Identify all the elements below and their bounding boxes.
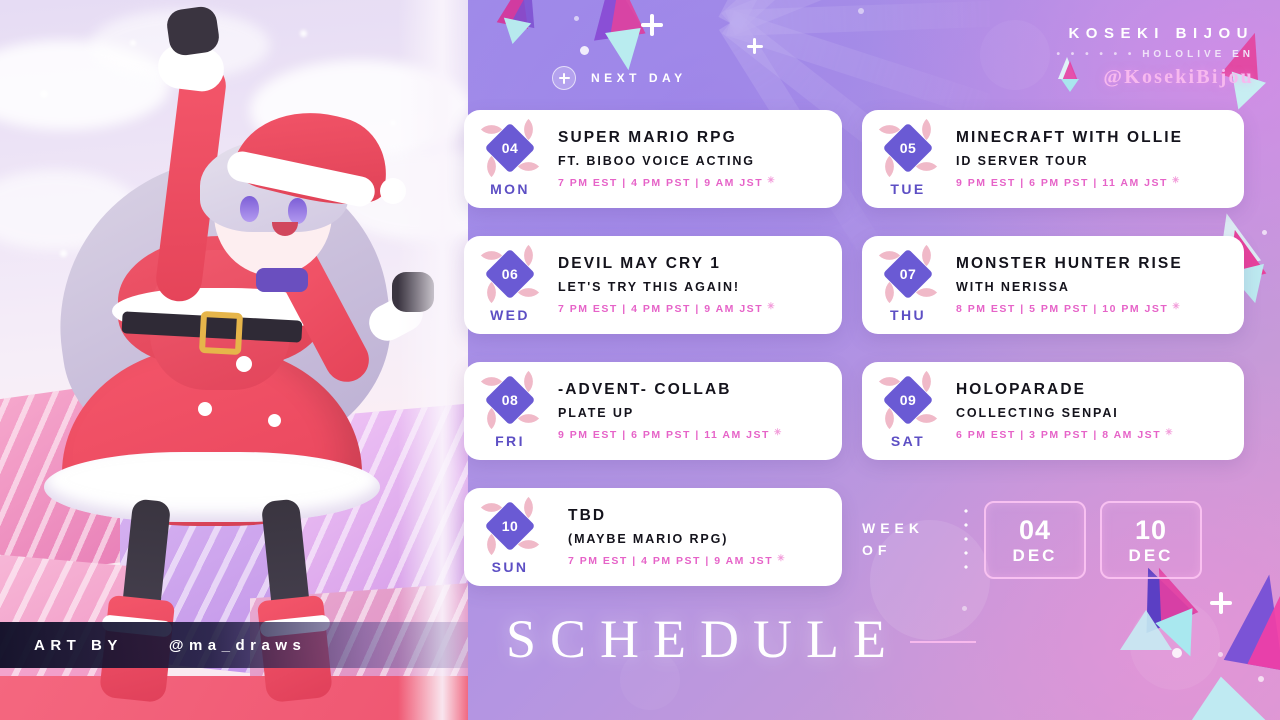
stream-subtitle: PLATE UP [558, 406, 830, 420]
day-badge: 10 SUN [474, 499, 546, 575]
schedule-card-wed[interactable]: 06 WED DEVIL MAY CRY 1 LET'S TRY THIS AG… [464, 236, 842, 334]
day-of-week: TUE [890, 181, 925, 197]
day-badge: 07 THU [872, 247, 944, 323]
schedule-card-mon[interactable]: 04 MON SUPER MARIO RPG FT. BIBOO VOICE A… [464, 110, 842, 208]
stream-subtitle: (MAYBE MARIO RPG) [568, 532, 830, 546]
stream-title: DEVIL MAY CRY 1 [558, 255, 830, 273]
stream-times: 6 PM EST | 3 PM PST | 8 AM JST ✳ [956, 429, 1232, 441]
schedule-card-tue[interactable]: 05 TUE MINECRAFT WITH OLLIE ID SERVER TO… [862, 110, 1244, 208]
day-number: 04 [483, 121, 537, 175]
schedule-card-fri[interactable]: 08 FRI -ADVENT- COLLAB PLATE UP 9 PM EST… [464, 362, 842, 460]
week-of-line1: WEEK [862, 518, 958, 540]
stream-info: HOLOPARADE COLLECTING SENPAI 6 PM EST | … [944, 381, 1244, 441]
schedule-graphic: ART BY @ma_draws KOSEKI BIJOU • • • • • … [0, 0, 1280, 720]
stream-times: 7 PM EST | 4 PM PST | 9 AM JST ✳ [558, 303, 830, 315]
stream-times: 9 PM EST | 6 PM PST | 11 AM JST ✳ [558, 429, 830, 441]
day-number: 10 [483, 499, 537, 553]
times-text: 7 PM EST | 4 PM PST | 9 AM JST [568, 555, 773, 567]
day-badge: 09 SAT [872, 373, 944, 449]
day-of-week: FRI [495, 433, 525, 449]
day-of-week: THU [890, 307, 926, 323]
week-end-month: DEC [1129, 547, 1174, 564]
next-day-marker-icon: ✳ [1172, 176, 1181, 185]
stream-title: TBD [568, 507, 830, 525]
times-text: 9 PM EST | 6 PM PST | 11 AM JST [558, 429, 770, 441]
week-start-date: 04 DEC [984, 501, 1086, 579]
day-badge: 06 WED [474, 247, 546, 323]
stream-subtitle: FT. BIBOO VOICE ACTING [558, 154, 830, 168]
week-of-block: WEEK OF 04 DEC 10 DEC [862, 500, 1216, 580]
title-rule [910, 641, 976, 643]
stream-title: HOLOPARADE [956, 381, 1232, 399]
stream-info: TBD (MAYBE MARIO RPG) 7 PM EST | 4 PM PS… [546, 507, 842, 567]
times-text: 6 PM EST | 3 PM PST | 8 AM JST [956, 429, 1161, 441]
stream-times: 9 PM EST | 6 PM PST | 11 AM JST ✳ [956, 177, 1232, 189]
times-text: 9 PM EST | 6 PM PST | 11 AM JST [956, 177, 1168, 189]
next-day-marker-icon: ✳ [1172, 302, 1181, 311]
stream-info: -ADVENT- COLLAB PLATE UP 9 PM EST | 6 PM… [546, 381, 842, 441]
stream-title: -ADVENT- COLLAB [558, 381, 830, 399]
times-text: 7 PM EST | 4 PM PST | 9 AM JST [558, 177, 763, 189]
stream-times: 7 PM EST | 4 PM PST | 9 AM JST ✳ [558, 177, 830, 189]
day-of-week: SAT [891, 433, 925, 449]
next-day-marker-icon: ✳ [1165, 428, 1174, 437]
stream-title: SUPER MARIO RPG [558, 129, 830, 147]
times-text: 7 PM EST | 4 PM PST | 9 AM JST [558, 303, 763, 315]
day-badge: 05 TUE [872, 121, 944, 197]
day-of-week: MON [490, 181, 530, 197]
schedule-title: SCHEDULE [506, 612, 900, 666]
day-number: 09 [881, 373, 935, 427]
day-badge: 04 MON [474, 121, 546, 197]
stream-title: MONSTER HUNTER RISE [956, 255, 1232, 273]
week-start-day: 04 [1019, 517, 1051, 544]
stream-times: 8 PM EST | 5 PM PST | 10 PM JST ✳ [956, 303, 1232, 315]
stream-info: DEVIL MAY CRY 1 LET'S TRY THIS AGAIN! 7 … [546, 255, 842, 315]
times-text: 8 PM EST | 5 PM PST | 10 PM JST [956, 303, 1168, 315]
schedule-card-sat[interactable]: 09 SAT HOLOPARADE COLLECTING SENPAI 6 PM… [862, 362, 1244, 460]
day-of-week: SUN [492, 559, 529, 575]
day-badge: 08 FRI [474, 373, 546, 449]
week-end-day: 10 [1135, 517, 1167, 544]
dotted-divider [964, 504, 968, 576]
schedule-title-block: SCHEDULE [506, 612, 976, 666]
day-number: 06 [483, 247, 537, 301]
next-day-marker-icon: ✳ [767, 176, 776, 185]
week-start-month: DEC [1013, 547, 1058, 564]
stream-subtitle: COLLECTING SENPAI [956, 406, 1232, 420]
next-day-marker-icon: ✳ [767, 302, 776, 311]
stream-subtitle: ID SERVER TOUR [956, 154, 1232, 168]
next-day-marker-icon: ✳ [774, 428, 783, 437]
week-end-date: 10 DEC [1100, 501, 1202, 579]
stream-subtitle: WITH NERISSA [956, 280, 1232, 294]
stream-info: MINECRAFT WITH OLLIE ID SERVER TOUR 9 PM… [944, 129, 1244, 189]
schedule-card-thu[interactable]: 07 THU MONSTER HUNTER RISE WITH NERISSA … [862, 236, 1244, 334]
day-number: 08 [483, 373, 537, 427]
schedule-card-sun[interactable]: 10 SUN TBD (MAYBE MARIO RPG) 7 PM EST | … [464, 488, 842, 586]
day-number: 07 [881, 247, 935, 301]
week-of-line2: OF [862, 540, 958, 562]
day-number: 05 [881, 121, 935, 175]
stream-times: 7 PM EST | 4 PM PST | 9 AM JST ✳ [568, 555, 830, 567]
stream-info: SUPER MARIO RPG FT. BIBOO VOICE ACTING 7… [546, 129, 842, 189]
week-of-label: WEEK OF [862, 518, 958, 561]
day-of-week: WED [490, 307, 530, 323]
stream-title: MINECRAFT WITH OLLIE [956, 129, 1232, 147]
stream-subtitle: LET'S TRY THIS AGAIN! [558, 280, 830, 294]
stream-info: MONSTER HUNTER RISE WITH NERISSA 8 PM ES… [944, 255, 1244, 315]
next-day-marker-icon: ✳ [777, 554, 786, 563]
